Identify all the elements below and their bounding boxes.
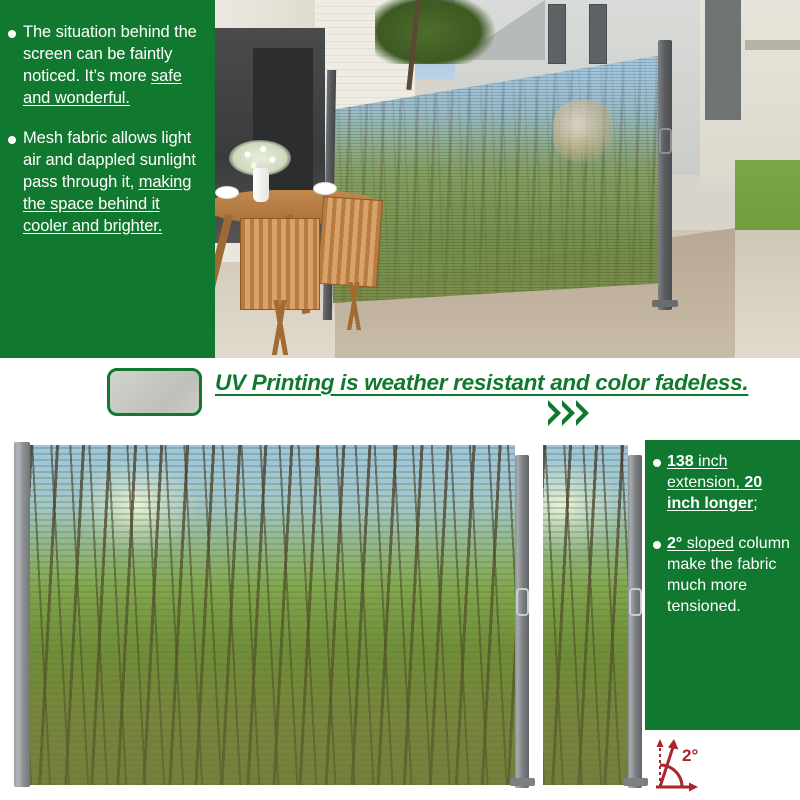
- chevron-right-icon: [576, 400, 589, 426]
- screen-post-middle-foot: [510, 778, 535, 786]
- bullet-dot-icon: [653, 459, 661, 467]
- screen-post-middle: [515, 455, 529, 788]
- list-item: Mesh fabric allows light air and dappled…: [6, 128, 207, 238]
- coffee-cup: [313, 182, 337, 195]
- coffee-cup: [215, 186, 239, 199]
- bullet-extension-part-4: ;: [753, 495, 757, 512]
- list-item: 138 inch extension, 20 inch longer;: [651, 452, 794, 514]
- infographic-page: The situation behind the screen can be f…: [0, 0, 800, 800]
- uv-printing-banner: UV Printing is weather resistant and col…: [0, 358, 800, 440]
- bullet-dot-icon: [653, 541, 661, 549]
- screen-post-handle-icon: [659, 128, 672, 154]
- right-building-band: [745, 40, 800, 50]
- chevron-right-icon: [562, 400, 575, 426]
- bullet-dot-icon: [8, 136, 16, 144]
- screen-post-middle-handle-icon: [516, 588, 529, 616]
- angle-label: 2°: [682, 746, 698, 765]
- top-feature-panel: The situation behind the screen can be f…: [0, 0, 215, 358]
- dining-chair: [240, 218, 320, 310]
- screen-post-base: [652, 300, 678, 307]
- house-window: [548, 4, 566, 64]
- bullet-slope-angle-value: 2°: [667, 535, 682, 552]
- screen-post-end: [628, 455, 642, 788]
- bullet-visibility-text: The situation behind the screen can be f…: [23, 22, 207, 110]
- top-section: The situation behind the screen can be f…: [0, 0, 800, 358]
- dining-chair-legs: [323, 282, 385, 330]
- bullet-extension-value: 138: [667, 453, 694, 470]
- patio-photo: [215, 0, 800, 358]
- printed-child-figure: [553, 100, 615, 162]
- house-window: [589, 4, 607, 64]
- fabric-swatch-icon: [107, 368, 202, 416]
- spec-feature-panel: 138 inch extension, 20 inch longer; 2° s…: [645, 440, 800, 730]
- bullet-mesh-text: Mesh fabric allows light air and dappled…: [23, 128, 207, 238]
- list-item: 2° sloped column make the fabric much mo…: [651, 534, 794, 617]
- dining-chair: [317, 196, 383, 288]
- spacer: [6, 110, 207, 128]
- screen-post-end-handle-icon: [629, 588, 642, 616]
- extended-screen-panel-secondary: [543, 445, 628, 785]
- bullet-slope-part-2: sloped: [682, 535, 734, 552]
- screen-end-post: [658, 40, 672, 310]
- extended-screen-panel-main: [30, 445, 515, 785]
- horizontal-arrow-head: [689, 783, 698, 792]
- chevron-right-icon-group: [548, 400, 589, 426]
- uv-printing-headline: UV Printing is weather resistant and col…: [215, 370, 795, 396]
- flower-vase: [253, 168, 269, 202]
- right-building-shadow: [705, 0, 741, 120]
- cassette-housing-post: [14, 442, 30, 787]
- screen-post-end-foot: [623, 778, 648, 786]
- list-item: The situation behind the screen can be f…: [6, 22, 207, 110]
- dining-chair-legs: [243, 300, 317, 355]
- vertical-arrow-head: [657, 739, 664, 747]
- sloped-column-angle-diagram: 2°: [648, 735, 744, 795]
- sloped-arrow-head: [668, 739, 679, 750]
- bullet-dot-icon: [8, 30, 16, 38]
- bullet-slope-text: 2° sloped column make the fabric much mo…: [667, 534, 794, 617]
- tree-canopy: [375, 0, 495, 64]
- bullet-extension-text: 138 inch extension, 20 inch longer;: [667, 452, 794, 514]
- chevron-right-icon: [548, 400, 561, 426]
- angle-diagram-svg: 2°: [648, 735, 744, 795]
- spacer: [651, 514, 794, 534]
